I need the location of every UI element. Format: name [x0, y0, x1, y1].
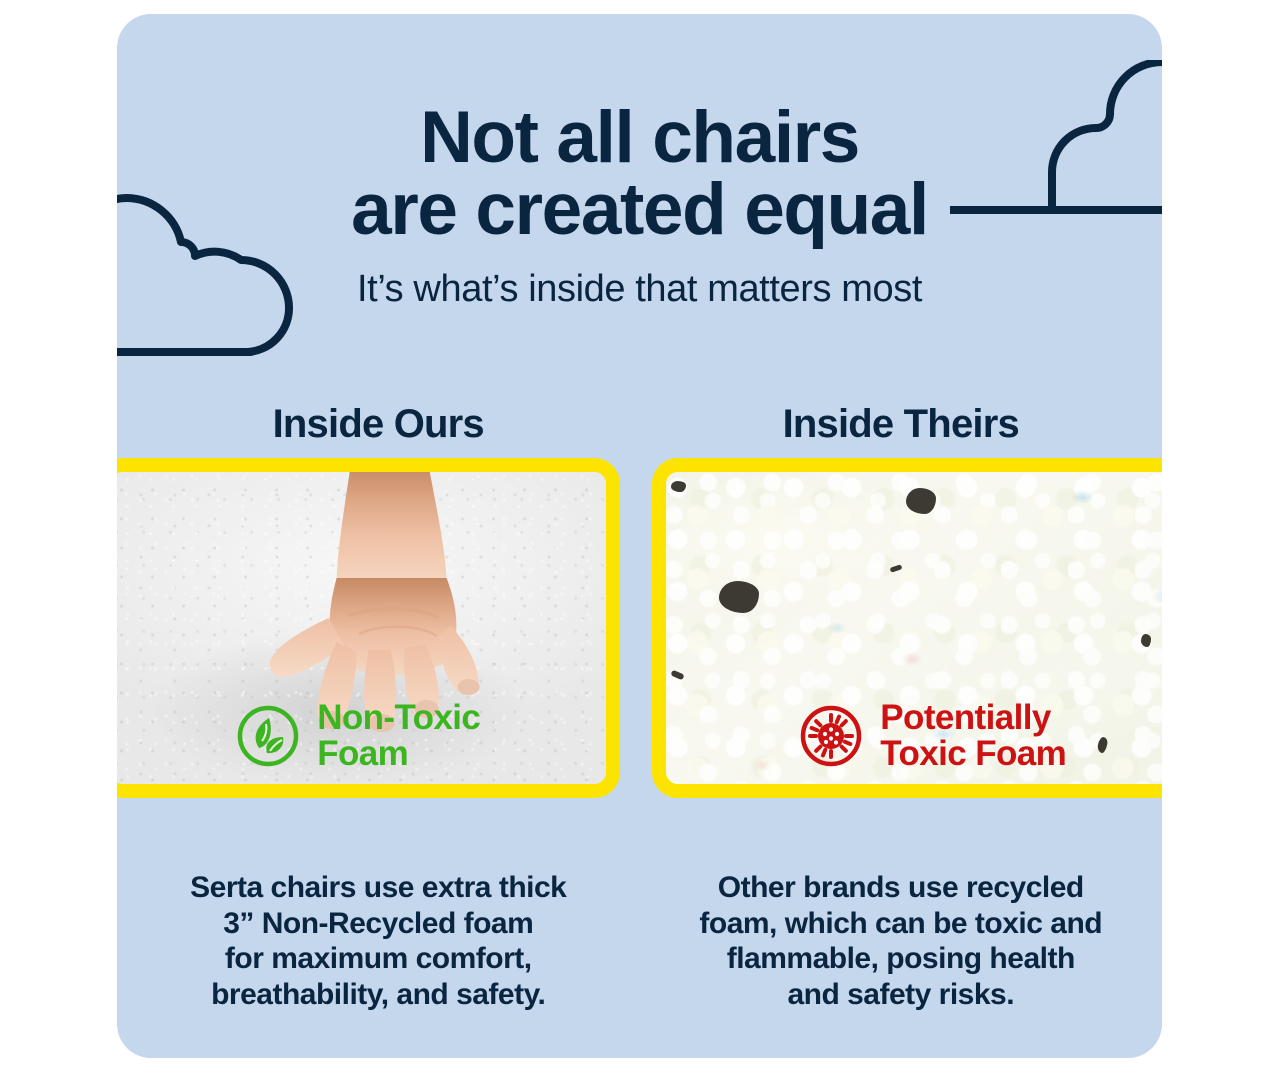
- caption-theirs: Other brands use recycled foam, which ca…: [640, 870, 1163, 1013]
- badge-label-ours: Non-Toxic Foam: [317, 700, 480, 772]
- comparison-columns: Inside Ours: [117, 392, 1162, 1058]
- column-title-theirs: Inside Theirs: [640, 392, 1163, 444]
- infographic-card: Not all chairs are created equal It’s wh…: [117, 14, 1162, 1058]
- page-title: Not all chairs are created equal: [117, 102, 1162, 247]
- column-title-ours: Inside Ours: [117, 392, 640, 444]
- leaf-icon: [236, 704, 300, 768]
- column-inside-theirs: Inside Theirs: [640, 392, 1163, 1058]
- germ-icon: [799, 704, 863, 768]
- column-inside-ours: Inside Ours: [117, 392, 640, 1058]
- page-subtitle: It’s what’s inside that matters most: [117, 269, 1162, 311]
- badge-potentially-toxic-foam: Potentially Toxic Foam: [666, 700, 1163, 772]
- photo-frame-theirs: Potentially Toxic Foam: [652, 458, 1163, 798]
- caption-ours: Serta chairs use extra thick 3” Non-Recy…: [117, 870, 640, 1013]
- debris-speck: [906, 488, 936, 514]
- photo-frame-ours: Non-Toxic Foam: [117, 458, 620, 798]
- badge-label-theirs: Potentially Toxic Foam: [880, 700, 1066, 772]
- header: Not all chairs are created equal It’s wh…: [117, 102, 1162, 310]
- badge-non-toxic-foam: Non-Toxic Foam: [117, 700, 606, 772]
